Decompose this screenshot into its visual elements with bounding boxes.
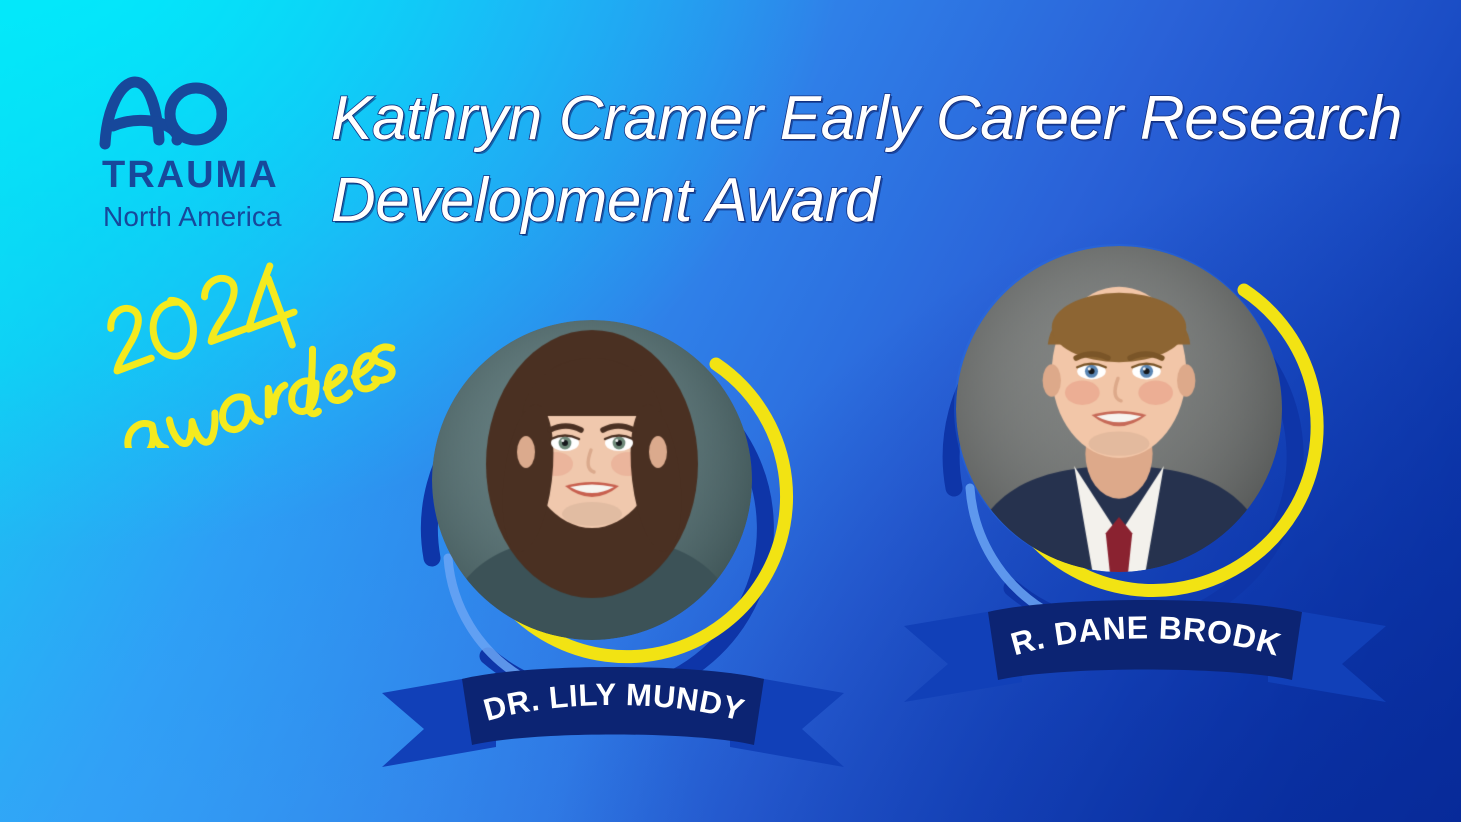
banner-label-wrap-2: DR. DANE BRODKE [900,588,1390,706]
name-banner-dane-brodke: DR. DANE BRODKE [900,588,1390,706]
name-banner-lily-mundy: DR. LILY MUNDY [378,655,848,770]
ao-monogram-icon [99,74,227,152]
logo-trauma-text: TRAUMA [102,156,331,194]
banner-label-wrap: DR. LILY MUNDY [378,655,848,770]
award-announcement-graphic: TRAUMA North America [0,0,1461,822]
avatar-dane-brodke [956,246,1282,572]
awardee-name-1: DR. LILY MUNDY [480,677,748,728]
page-title-line-1: Kathryn Cramer Early Career Research [331,78,1391,160]
logo-region-text: North America [103,203,331,231]
avatar-lily-mundy [432,320,752,640]
ao-trauma-logo: TRAUMA North America [99,74,331,231]
